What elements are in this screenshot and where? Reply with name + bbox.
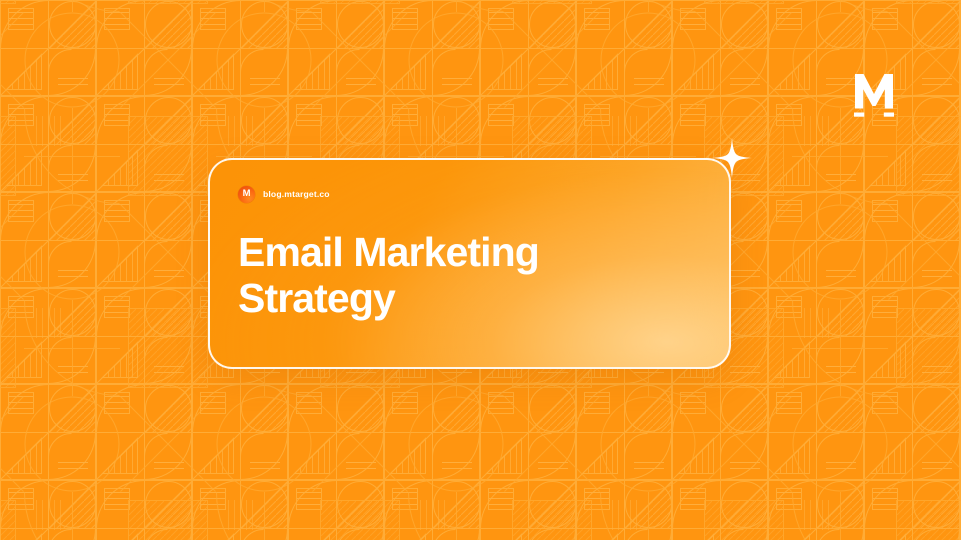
letter-m-monogram-icon (852, 72, 896, 120)
card-content: M blog.mtarget.co Email Marketing Strate… (210, 160, 729, 367)
article-preview-card: M blog.mtarget.co Email Marketing Strate… (208, 158, 731, 369)
page-title: Email Marketing Strategy (238, 230, 539, 322)
source-url-label: blog.mtarget.co (263, 189, 330, 199)
badge-logo-letter: M (243, 189, 251, 199)
source-badge[interactable]: M blog.mtarget.co (238, 184, 701, 204)
mtarget-circle-logo-icon: M (238, 186, 255, 203)
social-share-card-canvas: M blog.mtarget.co Email Marketing Strate… (0, 0, 961, 540)
